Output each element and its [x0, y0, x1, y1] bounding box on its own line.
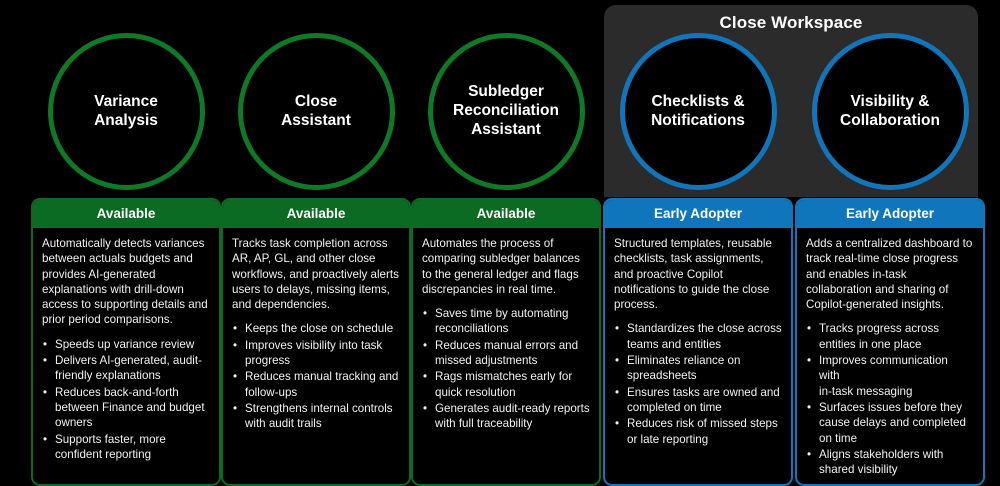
capability-column: VarianceAnalysisAvailableAutomatically d… [31, 0, 221, 486]
list-item: •Tracks progress across entities in one … [806, 321, 974, 352]
bullet-dot-icon: • [233, 321, 237, 336]
bullet-dot-icon: • [43, 432, 47, 447]
capability-card-body: Adds a centralized dashboard to track re… [797, 228, 983, 484]
list-item-label: Reduces risk of missed steps or late rep… [627, 417, 778, 445]
capability-circle-label: Visibility &Collaboration [828, 93, 952, 131]
capability-circle-label: CloseAssistant [269, 93, 363, 131]
list-item-label: Reduces back-and-forth between Finance a… [55, 386, 205, 430]
status-badge: Available [33, 200, 219, 228]
list-item-label: Eliminates reliance on spreadsheets [627, 354, 740, 382]
capability-columns: VarianceAnalysisAvailableAutomatically d… [0, 0, 1000, 486]
capability-description: Adds a centralized dashboard to track re… [806, 236, 974, 312]
bullet-dot-icon: • [423, 401, 427, 416]
capability-card-body: Structured templates, reusable checklist… [605, 228, 791, 484]
capability-benefit-list: •Keeps the close on schedule•Improves vi… [232, 321, 400, 431]
capability-circle[interactable]: Visibility &Collaboration [812, 33, 969, 190]
capability-card: Early AdopterStructured templates, reusa… [603, 198, 793, 486]
bullet-dot-icon: • [615, 321, 619, 336]
capability-card: AvailableTracks task completion across A… [221, 198, 411, 486]
status-badge: Early Adopter [797, 200, 983, 228]
list-item-label: Surfaces issues before they cause delays… [819, 401, 966, 445]
list-item-label: Improves communication with in-task mess… [819, 354, 948, 398]
list-item-label: Standardizes the close across teams and … [627, 322, 782, 350]
list-item: •Saves time by automating reconciliation… [422, 306, 590, 337]
bullet-dot-icon: • [233, 369, 237, 384]
list-item: •Improves visibility into task progress [232, 338, 400, 369]
list-item: •Reduces back-and-forth between Finance … [42, 385, 210, 431]
capability-card-body: Tracks task completion across AR, AP, GL… [223, 228, 409, 484]
list-item-label: Tracks progress across entities in one p… [819, 322, 939, 350]
list-item: •Reduces manual errors and missed adjust… [422, 338, 590, 369]
list-item: •Surfaces issues before they cause delay… [806, 400, 974, 446]
bullet-dot-icon: • [615, 353, 619, 368]
list-item: •Generates audit-ready reports with full… [422, 401, 590, 432]
capability-benefit-list: •Standardizes the close across teams and… [614, 321, 782, 446]
bullet-dot-icon: • [423, 306, 427, 321]
capability-column: CloseAssistantAvailableTracks task compl… [221, 0, 411, 486]
list-item: •Reduces risk of missed steps or late re… [614, 416, 782, 447]
list-item: •Eliminates reliance on spreadsheets [614, 353, 782, 384]
capability-benefit-list: •Tracks progress across entities in one … [806, 321, 974, 477]
capability-benefit-list: •Speeds up variance review•Delivers AI-g… [42, 337, 210, 462]
list-item-label: Improves visibility into task progress [245, 339, 382, 367]
capability-circle[interactable]: Checklists &Notifications [620, 33, 777, 190]
capability-circle-label: VarianceAnalysis [82, 93, 170, 131]
list-item-label: Speeds up variance review [55, 338, 194, 351]
bullet-dot-icon: • [807, 400, 811, 415]
list-item: •Strengthens internal controls with audi… [232, 401, 400, 432]
bullet-dot-icon: • [43, 385, 47, 400]
list-item: •Speeds up variance review [42, 337, 210, 352]
bullet-dot-icon: • [807, 321, 811, 336]
list-item-label: Strengthens internal controls with audit… [245, 402, 393, 430]
list-item: •Standardizes the close across teams and… [614, 321, 782, 352]
capability-circle-label: SubledgerReconciliationAssistant [441, 83, 571, 140]
list-item: •Keeps the close on schedule [232, 321, 400, 336]
bullet-dot-icon: • [233, 338, 237, 353]
capability-circle[interactable]: CloseAssistant [238, 33, 395, 190]
capability-card-body: Automates the process of comparing suble… [413, 228, 599, 484]
list-item-label: Keeps the close on schedule [245, 322, 393, 335]
capability-circle[interactable]: VarianceAnalysis [48, 33, 205, 190]
capability-column: SubledgerReconciliationAssistantAvailabl… [411, 0, 601, 486]
list-item: •Ensures tasks are owned and completed o… [614, 385, 782, 416]
bullet-dot-icon: • [423, 369, 427, 384]
list-item-label: Delivers AI-generated, audit-friendly ex… [55, 354, 202, 382]
bullet-dot-icon: • [43, 353, 47, 368]
list-item-label: Reduces manual tracking and follow-ups [245, 370, 398, 398]
bullet-dot-icon: • [807, 447, 811, 462]
capability-card: AvailableAutomatically detects variances… [31, 198, 221, 486]
list-item-label: Reduces manual errors and missed adjustm… [435, 339, 578, 367]
status-badge: Available [413, 200, 599, 228]
bullet-dot-icon: • [807, 353, 811, 368]
list-item-label: Saves time by automating reconciliations [435, 307, 568, 335]
capability-description: Automatically detects variances between … [42, 236, 210, 328]
list-item: •Rags mismatches early for quick resolut… [422, 369, 590, 400]
bullet-dot-icon: • [615, 416, 619, 431]
list-item-label: Aligns stakeholders with shared visibili… [819, 448, 943, 476]
bullet-dot-icon: • [423, 338, 427, 353]
list-item: •Delivers AI-generated, audit-friendly e… [42, 353, 210, 384]
list-item: •Improves communication with in-task mes… [806, 353, 974, 399]
capability-description: Tracks task completion across AR, AP, GL… [232, 236, 400, 312]
bullet-dot-icon: • [43, 337, 47, 352]
bullet-dot-icon: • [615, 385, 619, 400]
list-item-label: Rags mismatches early for quick resoluti… [435, 370, 572, 398]
list-item-label: Supports faster, more confident reportin… [55, 433, 166, 461]
list-item-label: Generates audit-ready reports with full … [435, 402, 590, 430]
status-badge: Available [223, 200, 409, 228]
list-item-label: Ensures tasks are owned and completed on… [627, 386, 780, 414]
capability-description: Automates the process of comparing suble… [422, 236, 590, 297]
capability-circle[interactable]: SubledgerReconciliationAssistant [428, 33, 585, 190]
capability-card: AvailableAutomates the process of compar… [411, 198, 601, 486]
capability-card-body: Automatically detects variances between … [33, 228, 219, 484]
capability-card: Early AdopterAdds a centralized dashboar… [795, 198, 985, 486]
capability-column: Checklists &NotificationsEarly AdopterSt… [603, 0, 793, 486]
capability-description: Structured templates, reusable checklist… [614, 236, 782, 312]
list-item: •Supports faster, more confident reporti… [42, 432, 210, 463]
list-item: •Reduces manual tracking and follow-ups [232, 369, 400, 400]
list-item: •Aligns stakeholders with shared visibil… [806, 447, 974, 478]
bullet-dot-icon: • [233, 401, 237, 416]
capability-column: Visibility &CollaborationEarly AdopterAd… [795, 0, 985, 486]
capability-benefit-list: •Saves time by automating reconciliation… [422, 306, 590, 431]
capability-circle-label: Checklists &Notifications [639, 93, 757, 131]
status-badge: Early Adopter [605, 200, 791, 228]
